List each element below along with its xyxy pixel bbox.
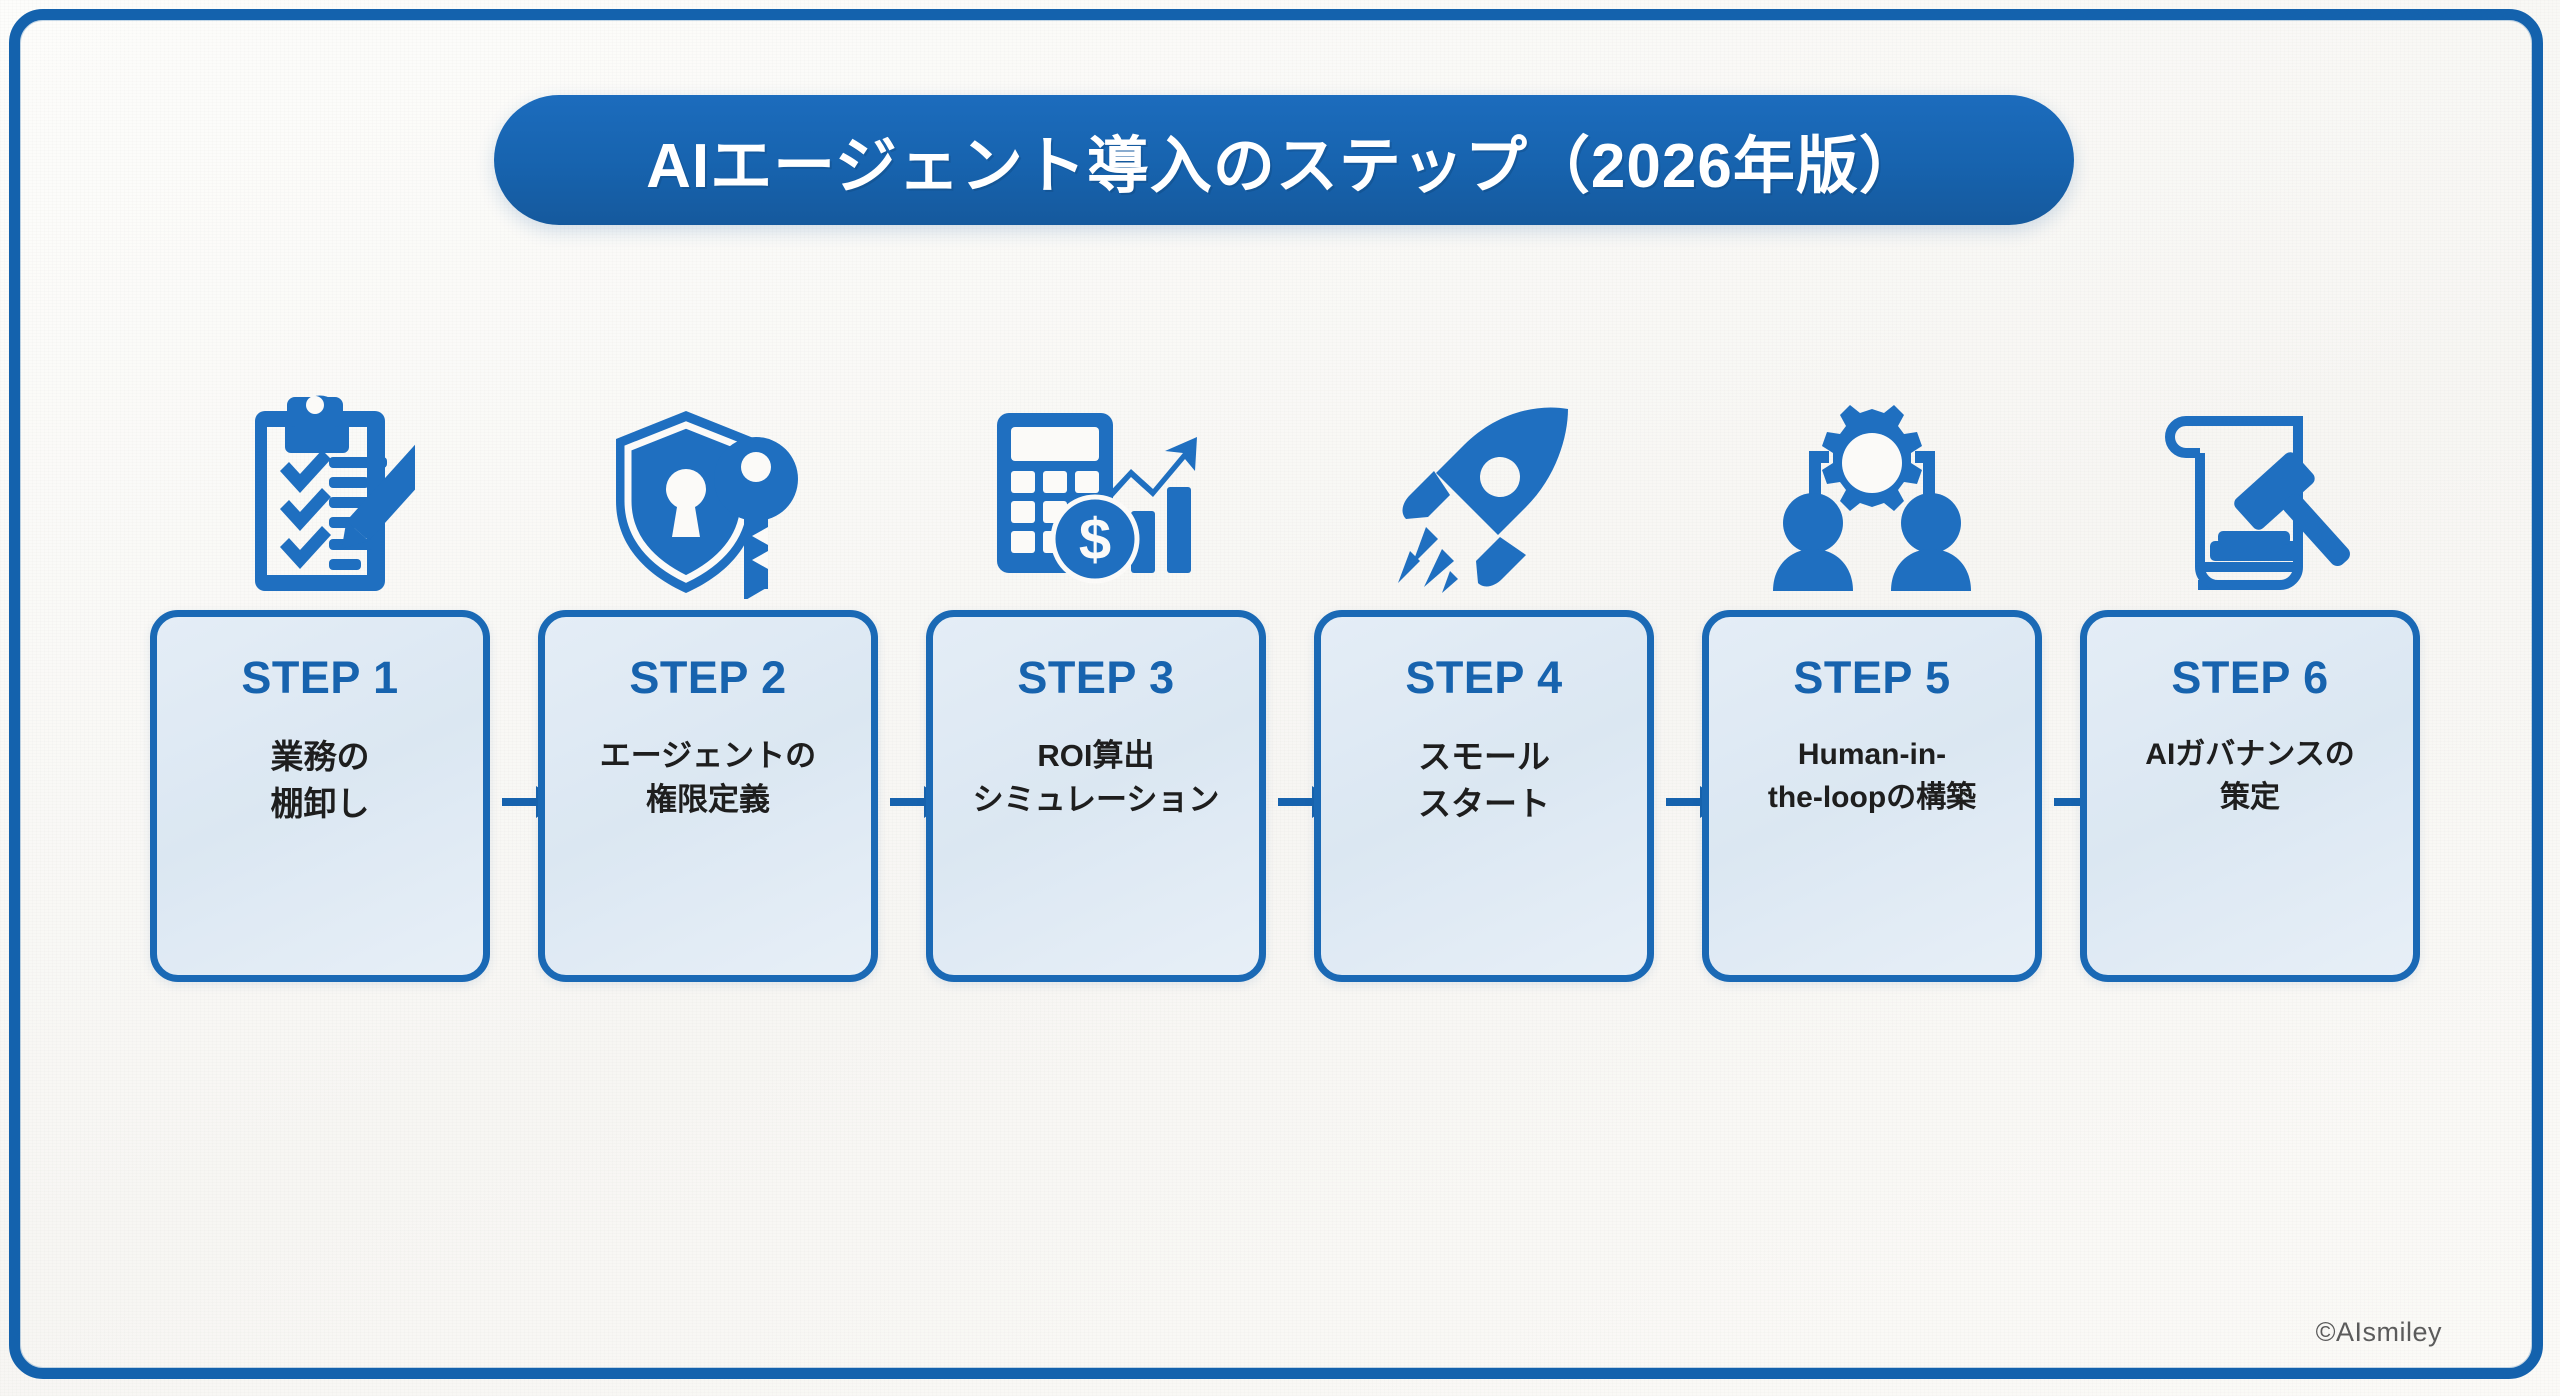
scroll-gavel-law-icon (2080, 370, 2420, 605)
step-card-5[interactable]: STEP 5 Human-in- the-loopの構築 (1702, 610, 2042, 982)
step-item-6[interactable]: STEP 6 AIガバナンスの 策定 (2080, 370, 2420, 990)
step-card-3[interactable]: STEP 3 ROI算出 シミュレーション (926, 610, 1266, 982)
step-item-5[interactable]: STEP 5 Human-in- the-loopの構築 (1702, 370, 2042, 990)
copyright-credit: ©AIsmiley (2316, 1317, 2442, 1348)
step-description: 業務の 棚卸し (265, 734, 376, 828)
step-description: ROI算出 シミュレーション (967, 734, 1226, 822)
step-description: Human-in- the-loopの構築 (1762, 734, 1982, 819)
step-label: STEP 5 (1793, 655, 1950, 700)
step-label: STEP 2 (629, 655, 786, 700)
step-card-2[interactable]: STEP 2 エージェントの 権限定義 (538, 610, 878, 982)
people-gear-collaboration-icon (1702, 370, 2042, 605)
step-card-4[interactable]: STEP 4 スモール スタート (1314, 610, 1654, 982)
page-title: AIエージェント導入のステップ（2026年版） (646, 115, 1922, 205)
title-banner: AIエージェント導入のステップ（2026年版） (494, 95, 2074, 225)
step-label: STEP 6 (2171, 655, 2328, 700)
rocket-launch-icon (1314, 370, 1654, 605)
infographic-canvas: AIエージェント導入のステップ（2026年版） (0, 0, 2560, 1396)
step-description: エージェントの 権限定義 (594, 734, 822, 822)
step-description: AIガバナンスの 策定 (2139, 734, 2360, 819)
svg-text:$: $ (1079, 507, 1111, 572)
step-card-6[interactable]: STEP 6 AIガバナンスの 策定 (2080, 610, 2420, 982)
step-label: STEP 3 (1017, 655, 1174, 700)
shield-key-lock-icon (538, 370, 878, 605)
step-card-1[interactable]: STEP 1 業務の 棚卸し (150, 610, 490, 982)
step-item-4[interactable]: STEP 4 スモール スタート (1314, 370, 1654, 990)
steps-flow: STEP 1 業務の 棚卸し (150, 370, 2420, 990)
step-item-3[interactable]: $ STEP 3 ROI算出 シミュレーション (926, 370, 1266, 990)
step-item-1[interactable]: STEP 1 業務の 棚卸し (150, 370, 490, 990)
calculator-dollar-growth-chart-icon: $ (926, 370, 1266, 605)
step-label: STEP 4 (1405, 655, 1562, 700)
step-description: スモール スタート (1412, 734, 1556, 828)
step-label: STEP 1 (241, 655, 398, 700)
step-item-2[interactable]: STEP 2 エージェントの 権限定義 (538, 370, 878, 990)
clipboard-checklist-pencil-icon (150, 370, 490, 605)
